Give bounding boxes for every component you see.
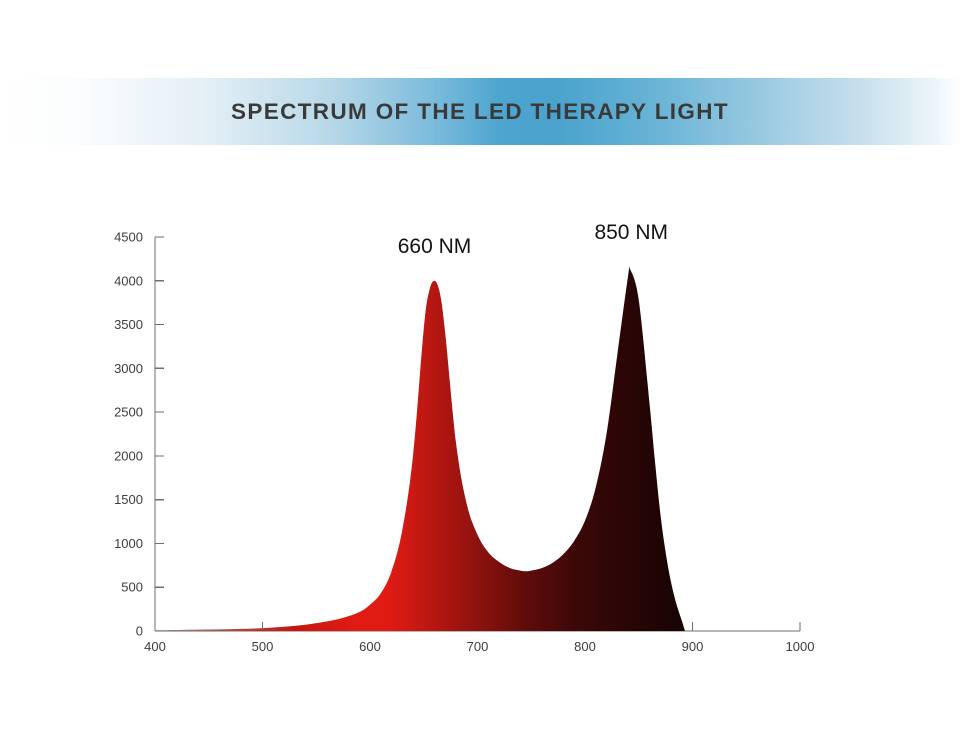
peak-label: 660 NM [398,235,472,258]
y-tick-label: 3500 [114,317,143,332]
spectrum-chart: 050010001500200025003000350040004500 400… [0,200,960,670]
y-tick-label: 500 [121,580,143,595]
x-tick-label: 800 [574,639,596,654]
peak-label: 850 NM [594,221,668,244]
y-tick-label: 2000 [114,448,143,463]
y-tick-label: 4500 [114,230,143,245]
y-tick-label: 0 [136,624,143,639]
x-tick-label: 400 [144,639,166,654]
page-title: SPECTRUM OF THE LED THERAPY LIGHT [231,99,729,125]
y-axis: 050010001500200025003000350040004500 [114,230,164,639]
spectrum-chart-svg: 050010001500200025003000350040004500 400… [0,200,960,670]
y-tick-label: 1000 [114,536,143,551]
x-tick-label: 900 [682,639,704,654]
peak-annotations: 660 NM850 NM [398,221,668,258]
y-tick-label: 2500 [114,405,143,420]
y-tick-label: 3000 [114,361,143,376]
x-tick-label: 600 [359,639,381,654]
y-tick-label: 1500 [114,492,143,507]
slide-canvas: SPECTRUM OF THE LED THERAPY LIGHT 050010… [0,0,960,745]
x-tick-label: 1000 [786,639,815,654]
title-band: SPECTRUM OF THE LED THERAPY LIGHT [0,78,960,145]
spectrum-area-path [155,266,685,631]
x-tick-label: 500 [252,639,274,654]
y-tick-label: 4000 [114,273,143,288]
x-tick-label: 700 [467,639,489,654]
